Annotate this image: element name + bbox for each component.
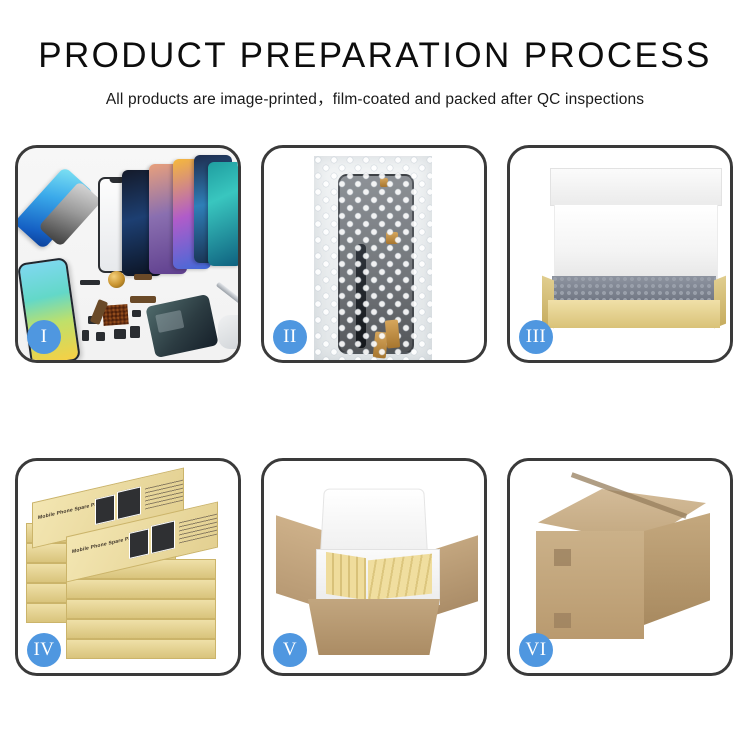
bubble-wrap-bag-icon [314, 156, 432, 360]
spare-part-icon-5 [114, 329, 126, 339]
panel-1-badge: I [27, 320, 61, 354]
process-panel-5: V [261, 458, 487, 676]
box-print-swatch-2b [151, 520, 175, 554]
phone-fan-item-5 [208, 162, 238, 266]
process-panel-4: Mobile Phone Spare Parts Mobile Phone Sp… [15, 458, 241, 676]
panel-3-badge: III [519, 320, 553, 354]
stacked-box-8 [66, 599, 216, 619]
carton-body-icon [308, 599, 440, 655]
yellow-boxes-group-2 [368, 554, 432, 601]
spare-part-icon-6 [130, 326, 140, 338]
yellow-boxes-group-1 [326, 552, 366, 600]
spare-part-icon-4 [96, 332, 105, 341]
chip-grid-icon [102, 304, 128, 326]
process-panel-2: II [261, 145, 487, 363]
spare-part-icon-7 [132, 310, 141, 317]
page-subtitle: All products are image-printed，film-coat… [0, 87, 750, 109]
foam-lid-icon [550, 168, 722, 206]
speaker-coil-icon [108, 271, 125, 288]
spare-part-icon-3 [82, 330, 89, 341]
tape-icon-4 [385, 319, 400, 348]
flex-cable-icon-2 [130, 296, 156, 303]
box-print-swatch-2a [129, 528, 149, 559]
page-header: PRODUCT PREPARATION PROCESS All products… [0, 0, 750, 109]
box-print-swatch-1b [117, 486, 141, 520]
process-panel-1: I [15, 145, 241, 363]
flex-cable-icon-3 [134, 274, 152, 280]
panel-2-badge: II [273, 320, 307, 354]
panel-6-badge: VI [519, 633, 553, 667]
carton-front-face [536, 531, 644, 639]
styrofoam-lid-icon [320, 489, 428, 554]
panel-5-badge: V [273, 633, 307, 667]
stacked-box-9 [66, 619, 216, 639]
process-panel-3: III [507, 145, 733, 363]
carton-tab-1 [554, 549, 571, 566]
kraft-box-front-wall [548, 300, 720, 328]
page-title: PRODUCT PREPARATION PROCESS [0, 38, 750, 73]
carton-tab-2 [554, 613, 571, 628]
box-print-text-lines-2 [179, 511, 218, 543]
process-panel-grid: I II III [15, 145, 735, 676]
spare-part-icon-1 [80, 280, 100, 285]
box-print-swatch-1a [95, 494, 115, 525]
bubble-texture [314, 156, 432, 360]
hand-icon [218, 315, 238, 349]
process-panel-6: VI [507, 458, 733, 676]
foam-sheet-icon [554, 204, 718, 282]
panel-4-badge: IV [27, 633, 61, 667]
stacked-box-7 [66, 579, 216, 599]
stacked-box-10 [66, 639, 216, 659]
box-print-text-lines-1 [145, 477, 184, 509]
